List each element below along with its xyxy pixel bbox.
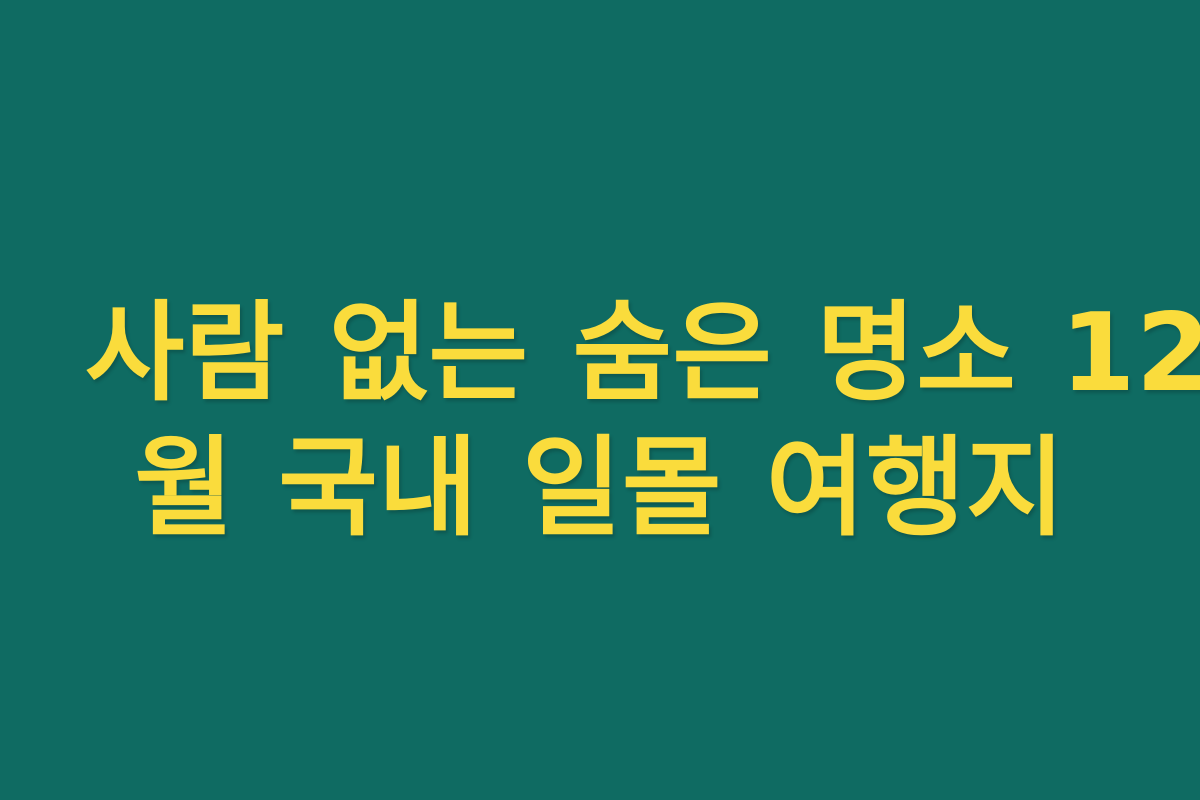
banner-canvas: 사람 없는 숨은 명소 12 월 국내 일몰 여행지 bbox=[0, 0, 1200, 800]
headline-line-1: 사람 없는 숨은 명소 12 bbox=[85, 286, 1115, 421]
headline-text-block: 사람 없는 숨은 명소 12 월 국내 일몰 여행지 bbox=[85, 286, 1115, 556]
headline-line-2: 월 국내 일몰 여행지 bbox=[85, 421, 1115, 556]
